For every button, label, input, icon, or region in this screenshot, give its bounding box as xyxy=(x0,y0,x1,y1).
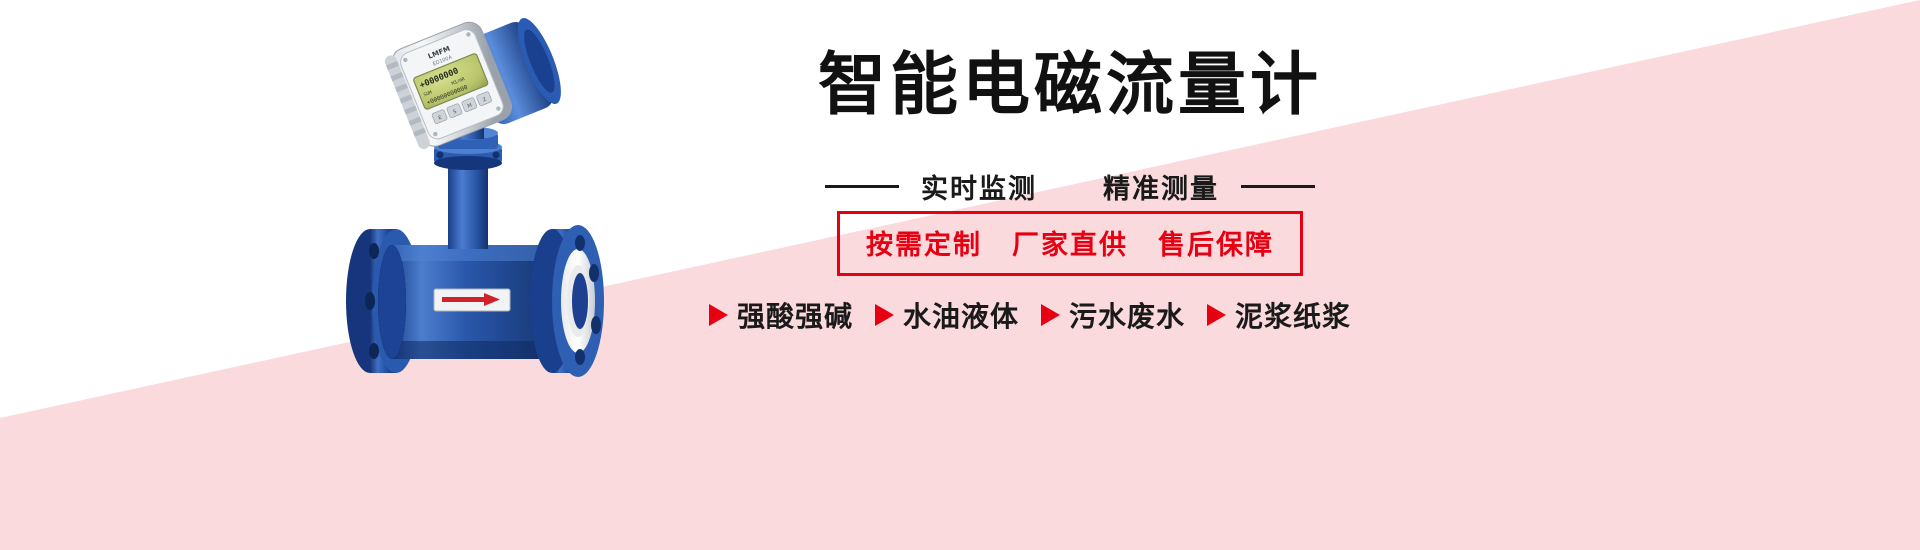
red-triangle-arrow-icon xyxy=(709,304,728,326)
feature-item: 污水废水 xyxy=(1041,295,1185,335)
red-triangle-arrow-icon xyxy=(1207,304,1226,326)
service-badge-item-2: 厂家直供 xyxy=(1012,223,1128,262)
service-badge: 按需定制 厂家直供 售后保障 xyxy=(837,211,1303,276)
product-banner: LMFM ED100A +0000000 SUM M3/HR +00000000… xyxy=(0,0,1920,550)
feature-label: 污水废水 xyxy=(1069,295,1185,335)
service-badge-item-3: 售后保障 xyxy=(1158,223,1274,262)
red-triangle-arrow-icon xyxy=(875,304,894,326)
subtitle-right-rule xyxy=(1241,185,1315,188)
subtitle-left-rule xyxy=(825,185,899,188)
feature-list: 强酸强碱 水油液体 污水废水 泥浆纸浆 xyxy=(610,295,1450,335)
service-badge-wrap: 按需定制 厂家直供 售后保障 xyxy=(690,211,1450,276)
red-triangle-arrow-icon xyxy=(1041,304,1060,326)
feature-item: 泥浆纸浆 xyxy=(1207,295,1351,335)
feature-label: 水油液体 xyxy=(903,295,1019,335)
subtitle-text-b: 精准测量 xyxy=(1103,167,1219,206)
service-badge-item-1: 按需定制 xyxy=(866,223,982,262)
feature-label: 强酸强碱 xyxy=(737,295,853,335)
subtitle-row: 实时监测 精准测量 xyxy=(690,167,1450,206)
feature-item: 水油液体 xyxy=(875,295,1019,335)
page-title: 智能电磁流量计 xyxy=(690,47,1450,125)
feature-label: 泥浆纸浆 xyxy=(1235,295,1351,335)
banner-text-column: 智能电磁流量计 实时监测 精准测量 按需定制 厂家直供 售后保障 强酸强碱 水油… xyxy=(690,0,1450,550)
subtitle-text-a: 实时监测 xyxy=(921,167,1037,206)
electromagnetic-flowmeter-image: LMFM ED100A +0000000 SUM M3/HR +00000000… xyxy=(330,5,710,465)
feature-item: 强酸强碱 xyxy=(709,295,853,335)
